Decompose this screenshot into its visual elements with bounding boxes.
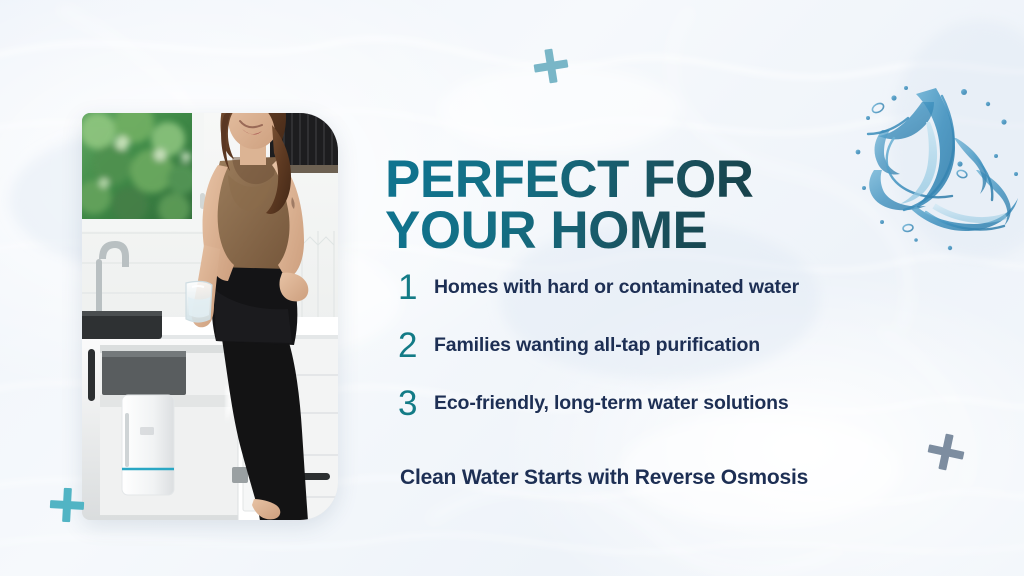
list-item-number: 1 — [398, 270, 434, 305]
slide-canvas: PERFECT FOR YOUR HOME 1 Homes with hard … — [0, 0, 1024, 576]
list-item-label: Families wanting all-tap purification — [434, 334, 760, 357]
plus-icon — [49, 487, 85, 523]
plus-icon-bar-v — [938, 433, 954, 470]
list-item-number: 2 — [398, 328, 434, 363]
kitchen-photo — [82, 113, 338, 520]
page-title: PERFECT FOR YOUR HOME — [385, 154, 805, 257]
plus-icon-bar-h — [50, 500, 84, 510]
tagline: Clean Water Starts with Reverse Osmosis — [400, 466, 808, 490]
plus-icon — [925, 431, 968, 474]
list-item: 2 Families wanting all-tap purification — [398, 316, 918, 374]
list-item: 1 Homes with hard or contaminated water — [398, 258, 918, 316]
list-item-number: 3 — [398, 386, 434, 421]
plus-icon-bar-v — [62, 488, 72, 522]
list-item-label: Eco-friendly, long-term water solutions — [434, 392, 789, 415]
water-splash-graphic — [838, 78, 1024, 268]
plus-icon — [532, 47, 571, 86]
plus-icon-bar-v — [544, 49, 557, 84]
list-item: 3 Eco-friendly, long-term water solution… — [398, 374, 918, 432]
list-item-label: Homes with hard or contaminated water — [434, 276, 799, 299]
benefits-list: 1 Homes with hard or contaminated water … — [398, 258, 918, 432]
plus-icon-bar-h — [534, 59, 569, 72]
plus-icon-bar-h — [928, 444, 965, 460]
